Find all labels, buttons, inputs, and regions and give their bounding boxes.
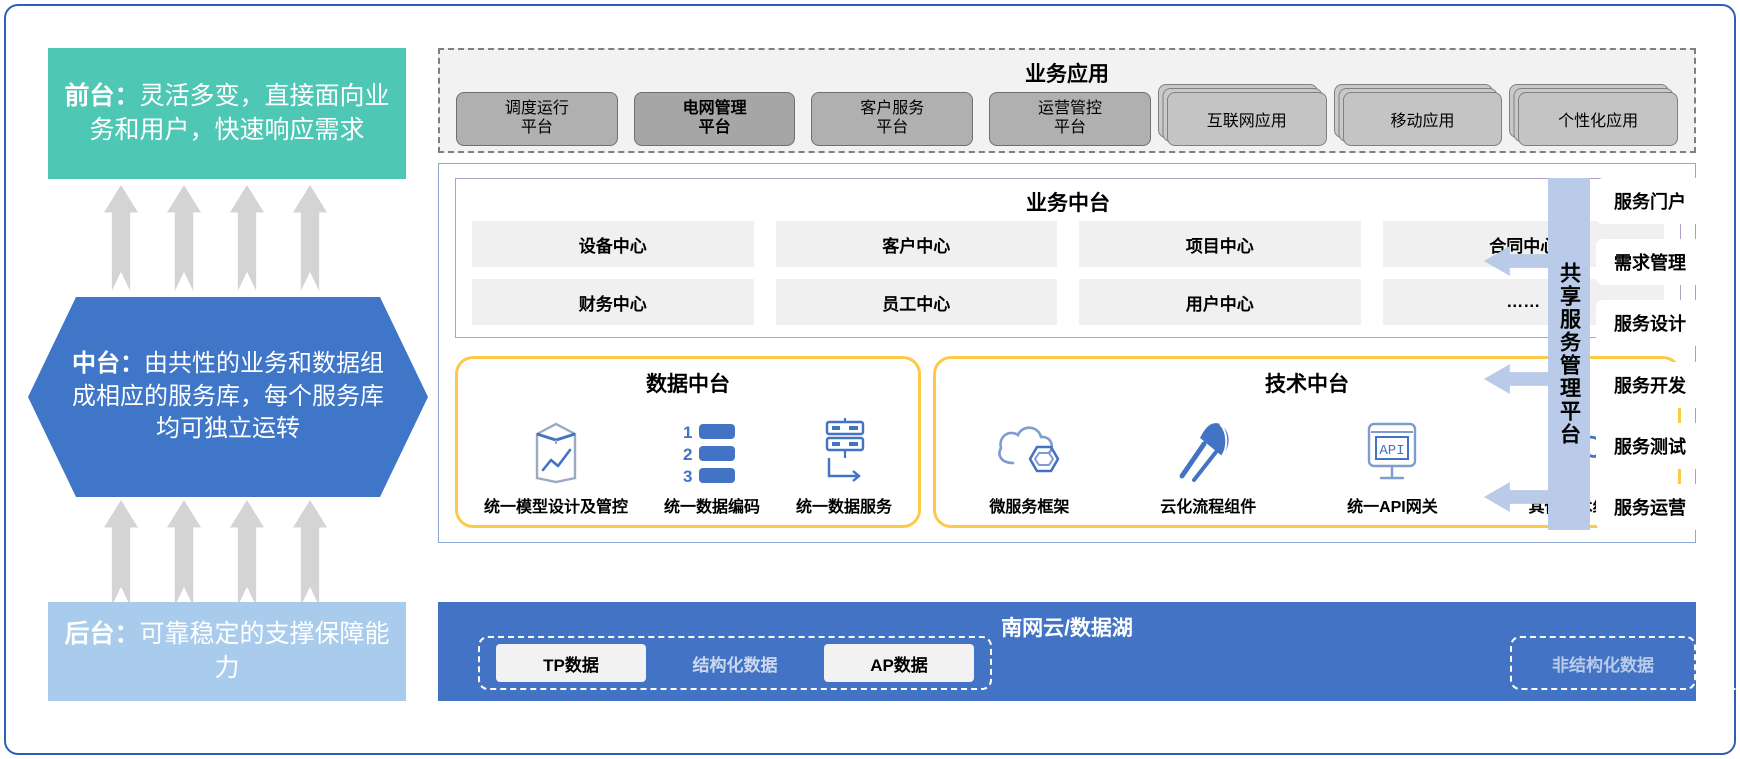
app-card-personalized-apps[interactable]: 个性化应用: [1518, 92, 1678, 146]
business-applications-title: 业务应用: [440, 58, 1694, 88]
app-card-line1: 客户服务: [860, 100, 924, 117]
flow-arrow-up-4: [293, 185, 327, 291]
app-card-label: 互联网应用: [1167, 92, 1327, 146]
center-cell-equipment[interactable]: 设备中心: [472, 221, 754, 267]
flow-arrow-up-7: [230, 500, 264, 606]
center-cell-user[interactable]: 用户中心: [1079, 279, 1361, 325]
cloud-hexagon-icon: [993, 415, 1065, 487]
data-item-label: 统一数据服务: [796, 493, 892, 517]
front-stage-prefix: 前台：: [64, 82, 139, 110]
center-cell-finance[interactable]: 财务中心: [472, 279, 754, 325]
app-card-customer-service[interactable]: 客户服务平台: [811, 92, 973, 146]
shared-service-band-label: 共享服务管理平台: [1559, 262, 1580, 446]
app-card-line2: 平台: [699, 119, 731, 136]
service-button-testing[interactable]: 服务测试: [1596, 423, 1704, 469]
dart-pin-icon: [1176, 415, 1240, 487]
app-card-line1: 调度运行: [505, 100, 569, 117]
center-cell-employee[interactable]: 员工中心: [776, 279, 1058, 325]
data-group-timeseries: 时序数据: [1718, 636, 1740, 690]
app-card-line2: 平台: [876, 119, 908, 136]
service-button-portal[interactable]: 服务门户: [1596, 178, 1704, 224]
business-applications-row: 调度运行平台 电网管理平台 客户服务平台 运营管控平台 互联网应用: [456, 92, 1678, 146]
app-card-mobile-apps[interactable]: 移动应用: [1343, 92, 1503, 146]
tech-item-label: 云化流程组件: [1160, 493, 1256, 517]
back-stage-text: 可靠稳定的支撑保障能力: [140, 620, 390, 682]
app-card-operations-control[interactable]: 运营管控平台: [989, 92, 1151, 146]
middle-stage-hexagon: 中台：由共性的业务和数据组成相应的服务库，每个服务库均可独立运转: [28, 297, 428, 497]
server-flow-icon: [813, 415, 875, 487]
svg-text:3: 3: [683, 467, 692, 484]
tech-item-label: 统一API网关: [1347, 493, 1438, 517]
app-card-line2: 平台: [1054, 119, 1086, 136]
front-stage-box: 前台：灵活多变，直接面向业务和用户，快速响应需求: [48, 48, 406, 179]
center-cell-project[interactable]: 项目中心: [1079, 221, 1361, 267]
service-button-design[interactable]: 服务设计: [1596, 300, 1704, 346]
back-stage-box: 后台：可靠稳定的支撑保障能力: [48, 602, 406, 701]
data-item-data-service[interactable]: 统一数据服务: [796, 415, 892, 517]
business-middle-platform-title: 业务中台: [456, 187, 1680, 217]
numbered-list-icon: 1 2 3: [681, 415, 743, 487]
app-card-label: 个性化应用: [1518, 92, 1678, 146]
app-card-line1: 运营管控: [1038, 100, 1102, 117]
flow-arrow-up-1: [104, 185, 138, 291]
tech-item-label: 微服务框架: [989, 493, 1069, 517]
flow-arrow-up-2: [167, 185, 201, 291]
app-card-line1: 电网管理: [683, 100, 747, 117]
flow-arrow-up-8: [293, 500, 327, 606]
chip-unstructured-data[interactable]: 非结构化数据: [1528, 644, 1678, 682]
back-stage-prefix: 后台：: [64, 620, 139, 648]
service-button-requirements[interactable]: 需求管理: [1596, 239, 1704, 285]
center-cell-customer[interactable]: 客户中心: [776, 221, 1058, 267]
data-item-label: 统一模型设计及管控: [484, 493, 628, 517]
data-item-label: 统一数据编码: [664, 493, 760, 517]
data-group-structured: TP数据 结构化数据 AP数据: [478, 636, 992, 690]
flow-arrow-up-5: [104, 500, 138, 606]
diagram-canvas: 前台：灵活多变，直接面向业务和用户，快速响应需求 中台：由共性的业务和数据组成相…: [0, 0, 1740, 759]
chip-tp-data[interactable]: TP数据: [496, 644, 646, 682]
svg-text:API: API: [1380, 443, 1405, 459]
data-item-data-coding[interactable]: 1 2 3 统一数据编码: [664, 415, 760, 517]
tech-item-api-gateway[interactable]: API 统一API网关: [1347, 415, 1438, 517]
chip-structured-data[interactable]: 结构化数据: [660, 644, 810, 682]
tech-item-cloud-process[interactable]: 云化流程组件: [1160, 415, 1256, 517]
tech-item-microservice[interactable]: 微服务框架: [989, 415, 1069, 517]
flow-arrow-up-3: [230, 185, 264, 291]
chip-ap-data[interactable]: AP数据: [824, 644, 974, 682]
svg-text:1: 1: [683, 423, 692, 442]
data-middle-platform-title: 数据中台: [458, 368, 918, 398]
app-card-line2: 平台: [521, 119, 553, 136]
cloud-data-lake-panel: 南网云/数据湖 TP数据 结构化数据 AP数据 非结构化数据 时序数据: [438, 602, 1696, 701]
data-group-unstructured: 非结构化数据: [1510, 636, 1696, 690]
flow-arrow-up-6: [167, 500, 201, 606]
app-card-grid-management[interactable]: 电网管理平台: [634, 92, 796, 146]
svg-text:2: 2: [683, 445, 692, 464]
chip-timeseries-data[interactable]: 时序数据: [1736, 644, 1740, 682]
data-middle-platform-box: 数据中台 统一模型设计及管控: [455, 356, 921, 528]
model-box-chart-icon: [527, 415, 585, 487]
service-button-development[interactable]: 服务开发: [1596, 362, 1704, 408]
service-buttons-column: 服务门户 需求管理 服务设计 服务开发 服务测试 服务运营: [1596, 178, 1704, 530]
shared-service-band: 共享服务管理平台: [1548, 178, 1590, 530]
api-monitor-icon: API: [1359, 415, 1425, 487]
app-card-dispatch[interactable]: 调度运行平台: [456, 92, 618, 146]
app-card-label: 移动应用: [1343, 92, 1503, 146]
app-card-internet-apps[interactable]: 互联网应用: [1167, 92, 1327, 146]
data-platform-items: 统一模型设计及管控 1 2 3 统一数据编码: [466, 407, 910, 517]
middle-stage-prefix: 中台：: [72, 350, 144, 377]
data-item-model-design[interactable]: 统一模型设计及管控: [484, 415, 628, 517]
service-button-operations[interactable]: 服务运营: [1596, 484, 1704, 530]
business-applications-panel: 业务应用 调度运行平台 电网管理平台 客户服务平台 运营管控平台 互联网应用: [438, 48, 1696, 153]
